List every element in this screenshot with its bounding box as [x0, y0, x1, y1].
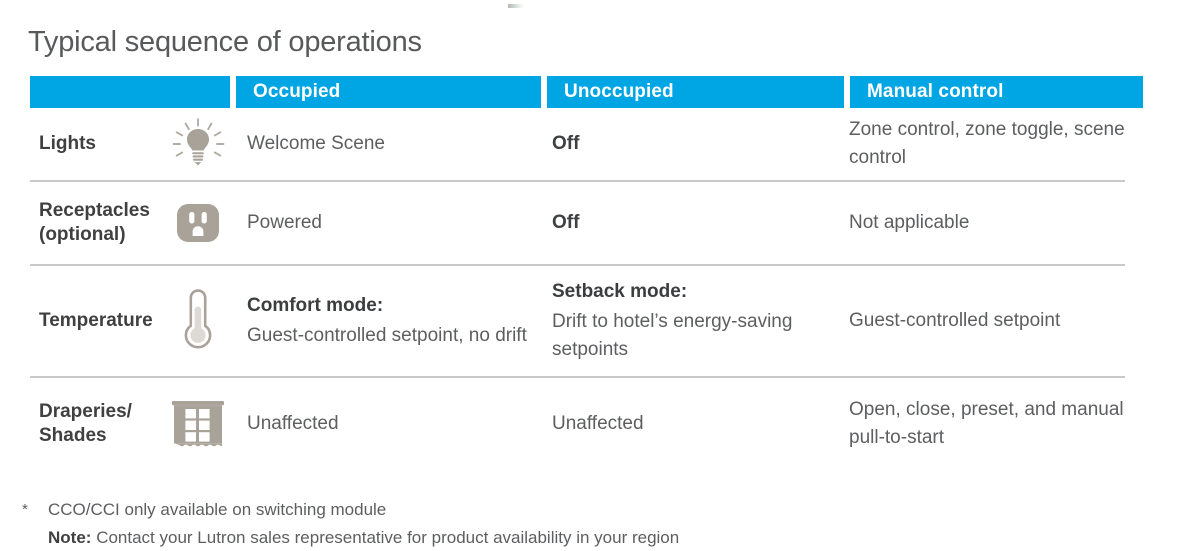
cell-temperature-occupied-text: Guest-controlled setpoint, no drift: [247, 325, 527, 346]
column-header-occupied: Occupied: [236, 76, 541, 108]
window-shade-icon: [165, 399, 231, 449]
operations-table: Occupied Unoccupied Manual control Light…: [30, 76, 1125, 470]
thermometer-icon: [165, 288, 231, 354]
page-root: Typical sequence of operations Occupied …: [0, 0, 1200, 550]
column-header-manual-control-label: Manual control: [850, 81, 1004, 103]
footnote-note-label: Note:: [48, 528, 91, 547]
light-bulb-icon: [165, 116, 231, 172]
cell-temperature-unoccupied-heading: Setback mode:: [552, 278, 832, 306]
table-header-row: Occupied Unoccupied Manual control: [30, 76, 1125, 108]
row-category-receptacles: Receptacles(optional): [30, 182, 230, 264]
table-row: Temperature Comfort mode: Guest-controll…: [30, 266, 1125, 378]
column-header-unoccupied: Unoccupied: [547, 76, 844, 108]
footnote-asterisk-mark: *: [22, 496, 48, 524]
row-label: Lights: [39, 132, 165, 156]
row-label: Receptacles(optional): [39, 199, 165, 246]
power-outlet-icon: [165, 203, 231, 243]
row-category-temperature: Temperature: [30, 266, 230, 376]
page-title: Typical sequence of operations: [28, 26, 422, 59]
cell-temperature-occupied-heading: Comfort mode:: [247, 292, 527, 320]
cell-draperies-manual: Open, close, preset, and manual pull-to-…: [832, 378, 1125, 470]
cell-temperature-unoccupied: Setback mode: Drift to hotel’s energy-sa…: [535, 266, 832, 376]
table-row: Lights: [30, 108, 1125, 182]
row-category-lights: Lights: [30, 108, 230, 180]
cell-lights-unoccupied: Off: [535, 108, 832, 180]
footnote-asterisk-text: CCO/CCI only available on switching modu…: [48, 496, 1172, 524]
scan-artifact: [508, 4, 524, 8]
cell-draperies-unoccupied: Unaffected: [535, 378, 832, 470]
table-row: Receptacles(optional) Powered Off Not ap…: [30, 182, 1125, 266]
footnote-note: Note: Contact your Lutron sales represen…: [22, 524, 1172, 551]
column-header-category: [30, 76, 230, 108]
row-category-draperies-shades: Draperies/Shades: [30, 378, 230, 470]
row-label-line2: Shades: [39, 425, 107, 446]
cell-draperies-occupied: Unaffected: [230, 378, 535, 470]
row-label: Temperature: [39, 309, 165, 333]
footnote-note-text: Note: Contact your Lutron sales represen…: [48, 524, 1172, 551]
cell-receptacles-manual: Not applicable: [832, 182, 1125, 264]
cell-temperature-manual: Guest-controlled setpoint: [832, 266, 1125, 376]
footnote-asterisk: * CCO/CCI only available on switching mo…: [22, 496, 1172, 524]
cell-lights-occupied: Welcome Scene: [230, 108, 535, 180]
cell-receptacles-occupied: Powered: [230, 182, 535, 264]
column-header-manual-control: Manual control: [850, 76, 1143, 108]
cell-temperature-unoccupied-text: Drift to hotel’s energy-saving setpoints: [552, 311, 792, 360]
footnotes: * CCO/CCI only available on switching mo…: [22, 496, 1172, 551]
row-label-line1: Draperies/: [39, 401, 132, 422]
cell-temperature-occupied: Comfort mode: Guest-controlled setpoint,…: [230, 266, 535, 376]
column-header-occupied-label: Occupied: [236, 81, 340, 103]
footnote-note-body: Contact your Lutron sales representative…: [96, 528, 679, 547]
row-label-line1: Receptacles: [39, 200, 150, 221]
footnote-note-spacer: [22, 524, 48, 551]
cell-receptacles-unoccupied: Off: [535, 182, 832, 264]
row-label-line2: (optional): [39, 224, 126, 245]
row-label: Draperies/Shades: [39, 400, 165, 447]
table-row: Draperies/Shades: [30, 378, 1125, 470]
cell-lights-manual: Zone control, zone toggle, scene control: [832, 108, 1125, 180]
column-header-unoccupied-label: Unoccupied: [547, 81, 674, 103]
